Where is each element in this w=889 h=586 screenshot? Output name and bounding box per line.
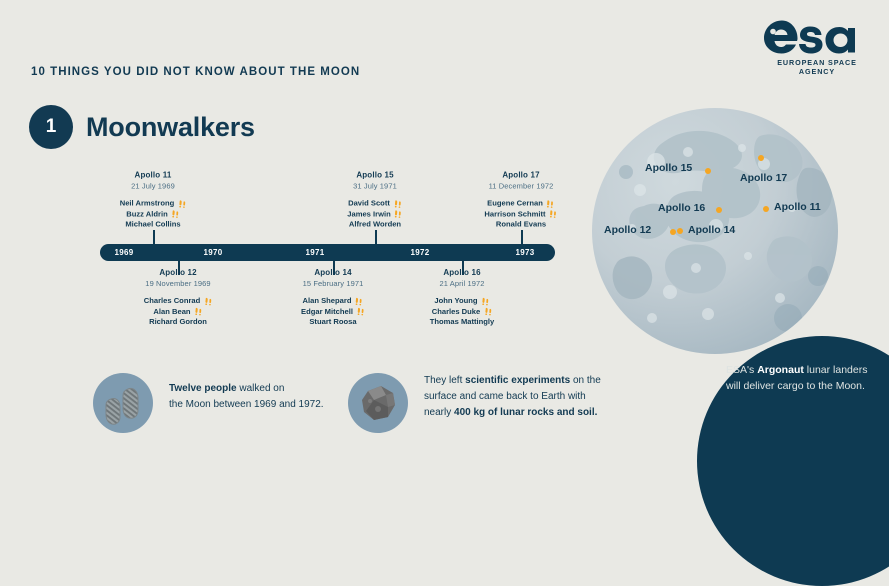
crew-member: Richard Gordon — [144, 317, 213, 328]
esa-agency-line: EUROPEAN SPACE AGENCY — [762, 58, 872, 76]
moonwalker-marker — [549, 210, 558, 219]
crew-member: Edgar Mitchell — [301, 307, 365, 318]
crew-member: Buzz Aldrin — [120, 209, 187, 220]
crew-member-name: Thomas Mattingly — [430, 317, 495, 328]
event-crew-list: Charles ConradAlan BeanRichard Gordon — [144, 296, 213, 328]
moonwalker-marker — [483, 307, 492, 316]
moon-site-dot-apollo-12 — [670, 229, 676, 235]
moonwalker-marker — [194, 307, 203, 316]
timeline-event-apollo-12: Apollo 1219 November 1969Charles ConradA… — [144, 268, 213, 328]
argonaut-name: Argonaut — [757, 364, 804, 376]
moon-site-dot-apollo-14 — [677, 228, 683, 234]
crew-member-name: Richard Gordon — [149, 317, 207, 328]
crew-member: Ronald Evans — [484, 220, 557, 231]
boot-print-icon — [546, 199, 555, 208]
event-mission-name: Apollo 16 — [430, 268, 495, 277]
fact-line1: walked on — [237, 383, 285, 394]
fact-twelve-people: Twelve people walked on the Moon between… — [93, 373, 373, 435]
crew-member-name: Alan Bean — [153, 307, 190, 318]
timeline-tick-apollo-17 — [521, 230, 523, 244]
event-mission-name: Apollo 17 — [484, 171, 557, 180]
moonwalker-marker — [171, 210, 180, 219]
moonwalker-marker — [394, 210, 403, 219]
crew-member: Stuart Roosa — [301, 317, 365, 328]
moon-site-label-apollo-17: Apollo 17 — [740, 172, 787, 184]
crew-member: James Irwin — [347, 209, 402, 220]
crew-member-name: Charles Conrad — [144, 296, 201, 307]
boot-print-icon — [393, 199, 402, 208]
esa-logo: EUROPEAN SPACE AGENCY — [762, 18, 872, 78]
timeline-event-apollo-14: Apollo 1415 February 1971Alan ShepardEdg… — [301, 268, 365, 328]
crew-member-name: Harrison Schmitt — [484, 209, 545, 220]
argonaut-text: ESA's Argonaut lunar landers will delive… — [726, 363, 876, 394]
event-mission-name: Apollo 11 — [120, 171, 187, 180]
timeline-year-1971: 1971 — [306, 248, 325, 257]
crew-member-name: Buzz Aldrin — [126, 209, 167, 220]
timeline-year-1970: 1970 — [204, 248, 223, 257]
moonwalker-marker — [354, 297, 363, 306]
boot-print-icon — [203, 297, 212, 306]
crew-member: Harrison Schmitt — [484, 209, 557, 220]
crew-member: Eugene Cernan — [484, 199, 557, 210]
event-crew-list: John YoungCharles DukeThomas Mattingly — [430, 296, 495, 328]
boot-print-icon — [177, 199, 186, 208]
timeline-year-1972: 1972 — [411, 248, 430, 257]
moon-site-dot-apollo-16 — [716, 207, 722, 213]
moonwalker-marker — [546, 199, 555, 208]
fact-twelve-people-text: Twelve people walked on the Moon between… — [169, 381, 324, 413]
crew-member: Michael Collins — [120, 220, 187, 231]
event-date: 15 February 1971 — [301, 279, 365, 288]
crew-member: John Young — [430, 296, 495, 307]
fact-lunar-rocks-text: They left scientific experiments on the … — [424, 373, 601, 421]
boot-print-icon — [356, 307, 365, 316]
boot-print-icon — [483, 307, 492, 316]
moonwalker-marker — [177, 199, 186, 208]
rocks-bold-experiments: scientific experiments — [465, 375, 570, 386]
argonaut-text-pre: ESA's — [726, 364, 757, 376]
crew-member: Charles Duke — [430, 307, 495, 318]
series-kicker: 10 THINGS YOU DID NOT KNOW ABOUT THE MOO… — [31, 66, 360, 78]
rocks-pre: They left — [424, 375, 465, 386]
crew-member-name: Alan Shepard — [303, 296, 352, 307]
moon-site-label-apollo-11: Apollo 11 — [774, 201, 821, 213]
crew-member: Alfred Worden — [347, 220, 402, 231]
rocks-bold-mass: 400 kg of lunar rocks and soil. — [454, 407, 597, 418]
fact-bold-twelve: Twelve people — [169, 383, 237, 394]
timeline-event-apollo-15: Apollo 1531 July 1971David ScottJames Ir… — [347, 171, 402, 231]
fact-lunar-rocks: They left scientific experiments on the … — [348, 373, 648, 443]
crew-member-name: Alfred Worden — [349, 220, 401, 231]
timeline-tick-apollo-11 — [153, 230, 155, 244]
crew-member-name: Ronald Evans — [496, 220, 546, 231]
boot-print-icon — [549, 210, 558, 219]
crew-member: Neil Armstrong — [120, 199, 187, 210]
crew-member-name: David Scott — [348, 199, 390, 210]
crew-member: Charles Conrad — [144, 296, 213, 307]
crew-member-name: James Irwin — [347, 209, 390, 220]
timeline-event-apollo-17: Apollo 1711 December 1972Eugene CernanHa… — [484, 171, 557, 231]
rocks-line1: on the — [570, 375, 601, 386]
moon-site-label-apollo-12: Apollo 12 — [604, 224, 651, 236]
section-number-badge: 1 — [29, 105, 73, 149]
moonwalker-marker — [203, 297, 212, 306]
timeline-event-apollo-16: Apollo 1621 April 1972John YoungCharles … — [430, 268, 495, 328]
event-date: 21 April 1972 — [430, 279, 495, 288]
page-title: Moonwalkers — [86, 112, 255, 143]
boot-print-icon — [194, 307, 203, 316]
moon-site-label-apollo-15: Apollo 15 — [645, 162, 692, 174]
event-mission-name: Apollo 12 — [144, 268, 213, 277]
timeline-year-1973: 1973 — [516, 248, 535, 257]
timeline-event-apollo-11: Apollo 1121 July 1969Neil ArmstrongBuzz … — [120, 171, 187, 231]
moonwalker-marker — [393, 199, 402, 208]
event-date: 19 November 1969 — [144, 279, 213, 288]
crew-member-name: Charles Duke — [432, 307, 481, 318]
event-crew-list: Eugene CernanHarrison SchmittRonald Evan… — [484, 199, 557, 231]
boot-print-icon — [354, 297, 363, 306]
event-crew-list: David ScottJames IrwinAlfred Worden — [347, 199, 402, 231]
event-mission-name: Apollo 15 — [347, 171, 402, 180]
crew-member-name: John Young — [434, 296, 477, 307]
event-crew-list: Neil ArmstrongBuzz AldrinMichael Collins — [120, 199, 187, 231]
moonwalker-marker — [481, 297, 490, 306]
footprints-icon — [93, 373, 153, 433]
rocks-line2: surface and came back to Earth with — [424, 391, 586, 402]
moon-site-dot-apollo-15 — [705, 168, 711, 174]
crew-member: Alan Shepard — [301, 296, 365, 307]
moon-rock-icon — [348, 373, 408, 433]
crew-member-name: Edgar Mitchell — [301, 307, 353, 318]
timeline-tick-apollo-15 — [375, 230, 377, 244]
crew-member: Thomas Mattingly — [430, 317, 495, 328]
moonwalker-marker — [356, 307, 365, 316]
crew-member-name: Neil Armstrong — [120, 199, 175, 210]
moon-site-label-apollo-16: Apollo 16 — [658, 202, 705, 214]
crew-member: Alan Bean — [144, 307, 213, 318]
event-date: 11 December 1972 — [484, 182, 557, 191]
timeline-bar: 19691970197119721973 — [100, 244, 555, 261]
event-date: 21 July 1969 — [120, 182, 187, 191]
moon-site-label-apollo-14: Apollo 14 — [688, 224, 735, 236]
event-mission-name: Apollo 14 — [301, 268, 365, 277]
boot-print-icon — [481, 297, 490, 306]
crew-member-name: Stuart Roosa — [309, 317, 356, 328]
argonaut-callout: ESA's Argonaut lunar landers will delive… — [697, 336, 889, 586]
moon-site-dot-apollo-17 — [758, 155, 764, 161]
boot-print-icon — [394, 210, 403, 219]
moon-site-dot-apollo-11 — [763, 206, 769, 212]
event-crew-list: Alan ShepardEdgar MitchellStuart Roosa — [301, 296, 365, 328]
crew-member: David Scott — [347, 199, 402, 210]
crew-member-name: Michael Collins — [125, 220, 180, 231]
timeline-year-1969: 1969 — [115, 248, 134, 257]
rocks-pre3: nearly — [424, 407, 454, 418]
fact-line2: the Moon between 1969 and 1972. — [169, 399, 324, 410]
boot-print-icon — [171, 210, 180, 219]
infographic-canvas: EUROPEAN SPACE AGENCY 10 THINGS YOU DID … — [0, 0, 889, 500]
crew-member-name: Eugene Cernan — [487, 199, 543, 210]
event-date: 31 July 1971 — [347, 182, 402, 191]
esa-wordmark-icon — [762, 18, 868, 54]
